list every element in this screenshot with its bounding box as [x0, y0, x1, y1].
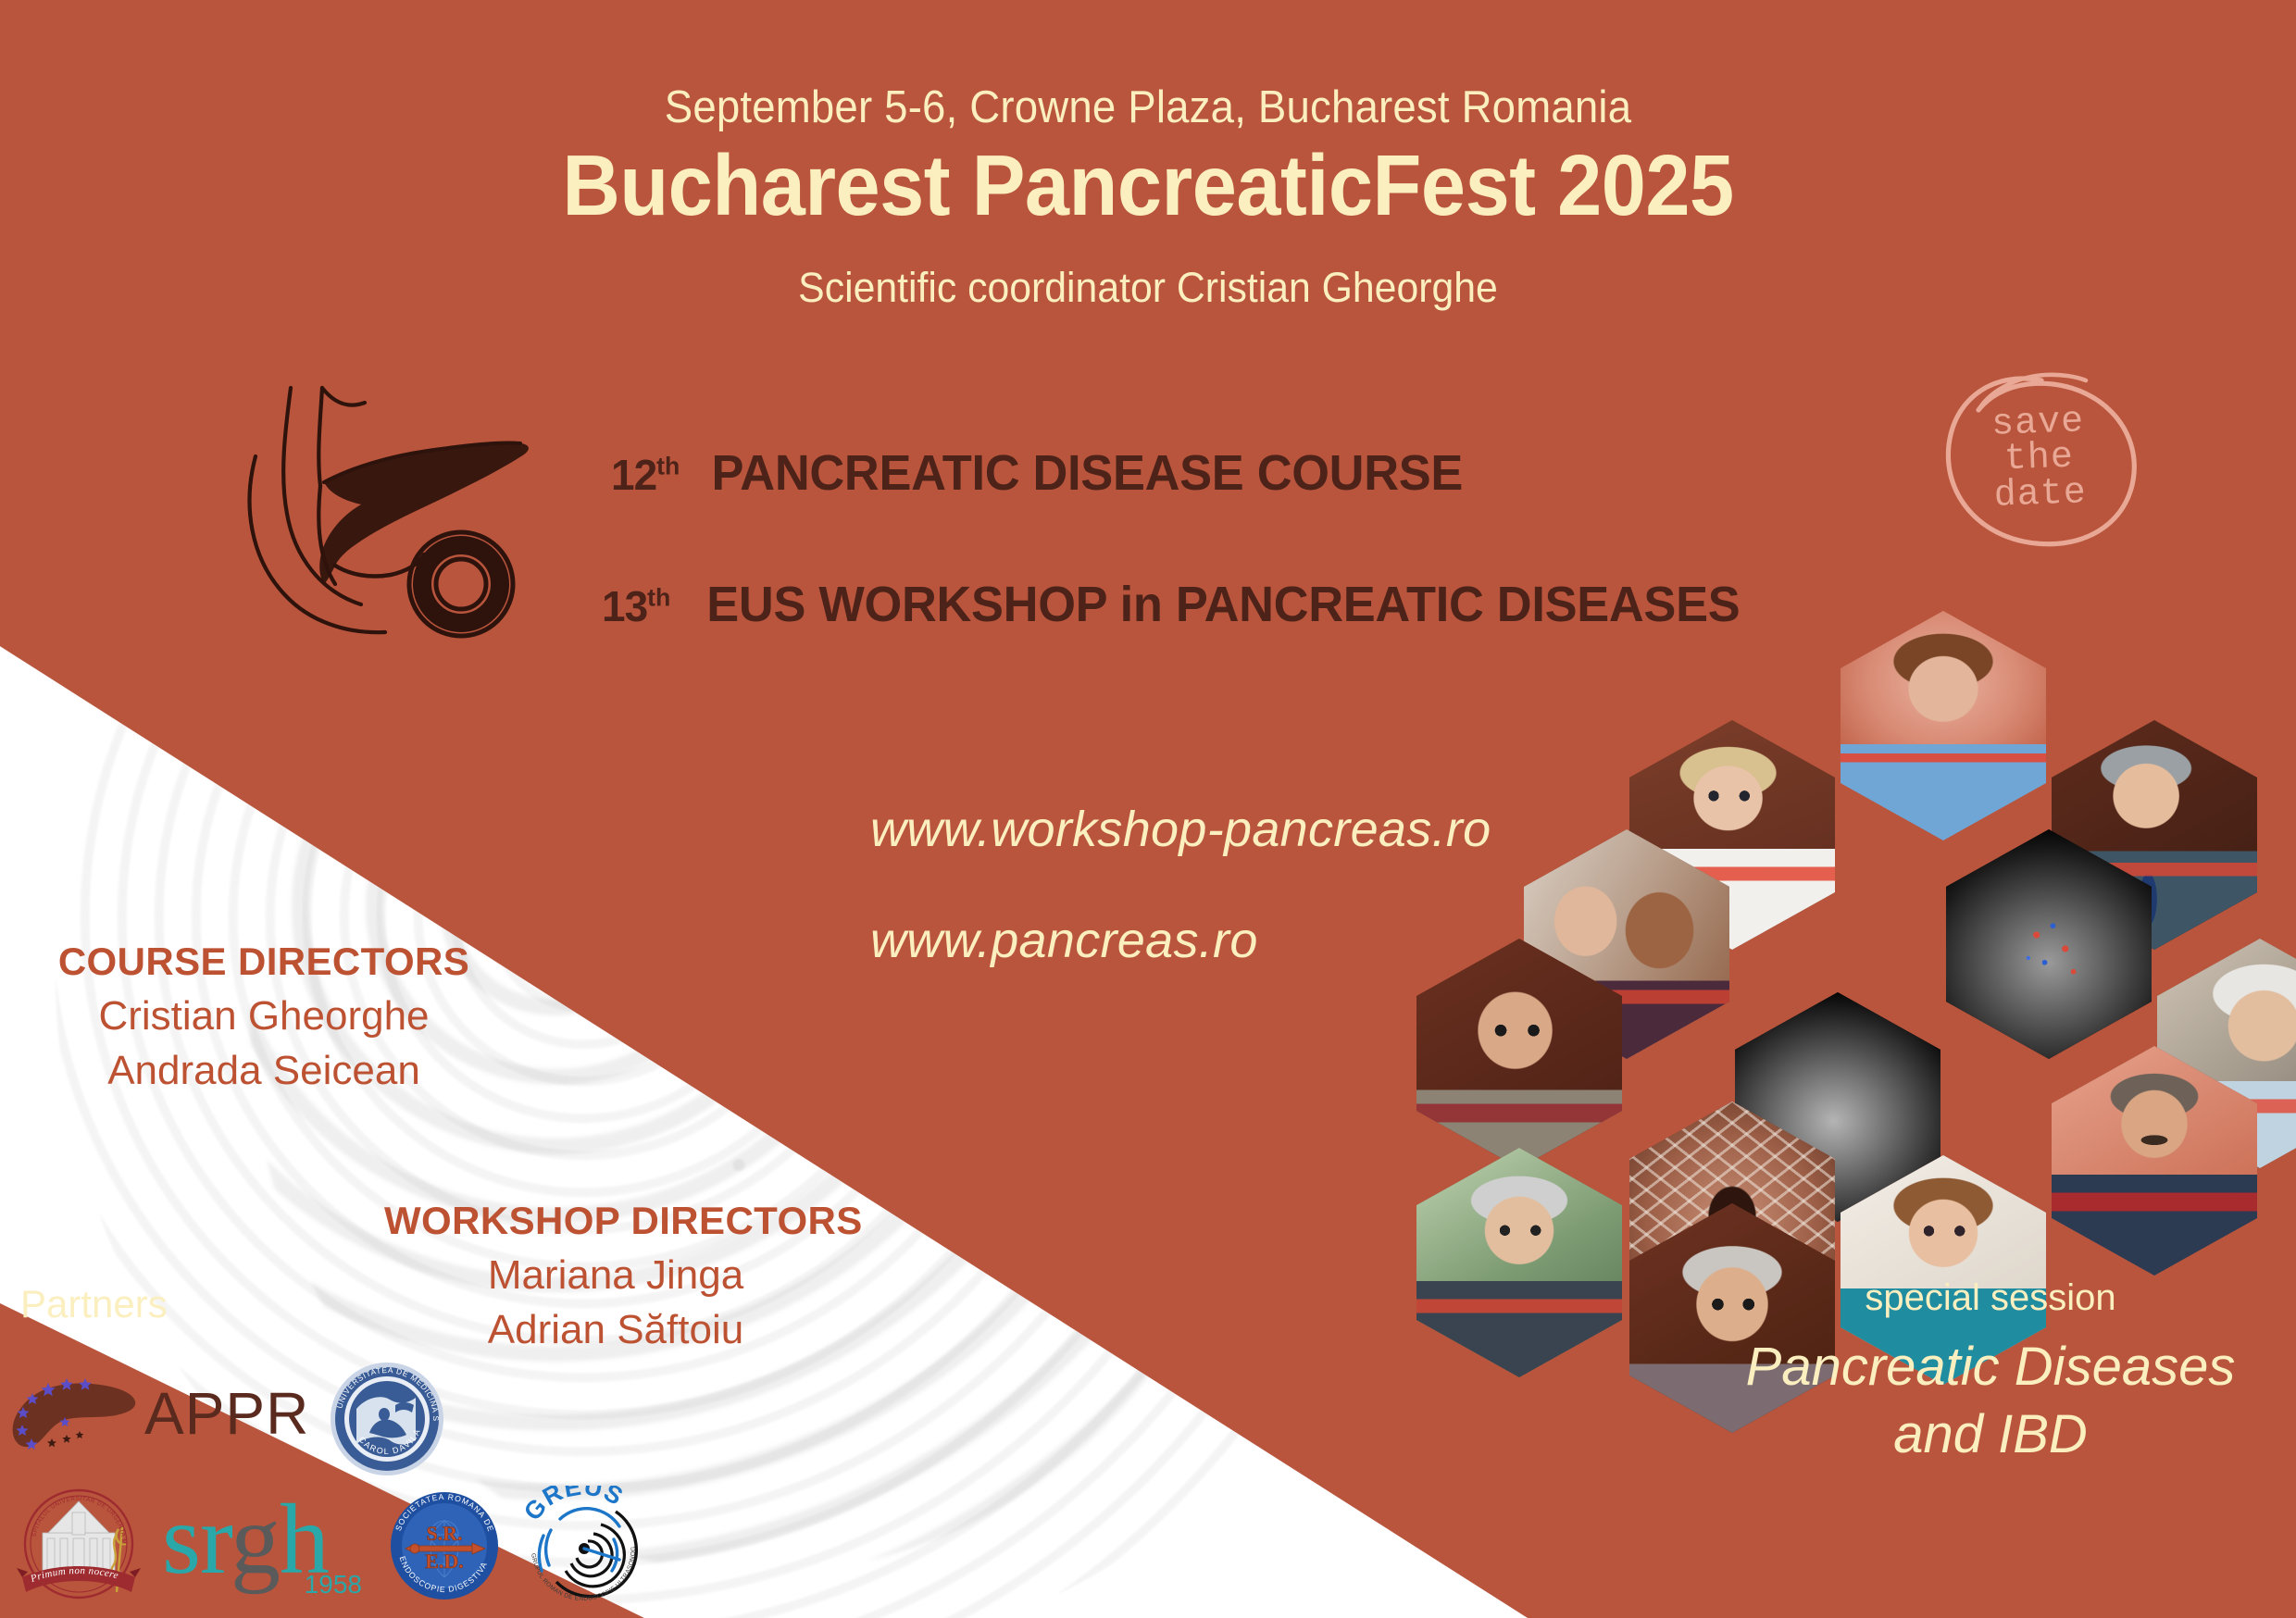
- workshop-directors-heading: WORKSHOP DIRECTORS: [384, 1199, 847, 1243]
- collage-tile-speaker-backdrop-woman: [1841, 611, 2046, 840]
- workshop-ordinal: 13th: [602, 582, 670, 630]
- course-ordinal: 12th: [611, 451, 680, 499]
- course-title: PANCREATIC DISEASE COURSE: [712, 444, 1463, 502]
- logo-greus: GREUS GRUPUL ROMAN DE ENDOSCOPIE ULTRASO…: [523, 1486, 643, 1606]
- save-the-date-stamp: save the date: [1930, 366, 2148, 574]
- workshop-directors-block: WORKSHOP DIRECTORS Mariana Jinga Adrian …: [384, 1199, 847, 1357]
- stamp-line-3: date: [1931, 474, 2150, 517]
- website-link-pancreas[interactable]: www.pancreas.ro: [870, 912, 1258, 969]
- special-session-title-line-2: and IBD: [1694, 1401, 2287, 1469]
- special-session-title-line-1: Pancreatic Diseases: [1694, 1334, 2287, 1401]
- logo-sred: S.R. E.D. SOCIETATEA ROMANA DE ENDOSCOPI…: [389, 1490, 500, 1601]
- website-link-workshop-pancreas[interactable]: www.workshop-pancreas.ro: [870, 801, 1491, 858]
- date-venue-line: September 5-6, Crowne Plaza, Bucharest R…: [81, 81, 2215, 133]
- course-heading-pancreatic-disease-course: 12thPANCREATIC DISEASE COURSE: [611, 444, 1475, 502]
- svg-text:S.R.: S.R.: [426, 1522, 462, 1545]
- stamp-text: save the date: [1928, 403, 2150, 517]
- special-session-block: special session Pancreatic Diseases and …: [1694, 1277, 2287, 1468]
- course-director-name-2: Andrada Seicean: [51, 1044, 477, 1099]
- logo-srgh: srgh 1958: [162, 1490, 366, 1601]
- workshop-director-name-2: Adrian Săftoiu: [384, 1303, 847, 1358]
- partner-logos: APPR UNIVERSITATEA DE: [0, 1361, 704, 1618]
- pancreas-sketch-icon: [231, 366, 546, 643]
- appr-wordmark: APPR: [144, 1379, 309, 1448]
- partners-label: Partners: [20, 1282, 168, 1326]
- course-directors-block: COURSE DIRECTORS Cristian Gheorghe Andra…: [51, 940, 477, 1098]
- special-session-label: special session: [1694, 1277, 2287, 1319]
- logo-primum-non-nocere: Primum non nocere SPITALUL UNIVERSITAR D…: [9, 1479, 148, 1609]
- course-directors-heading: COURSE DIRECTORS: [51, 940, 477, 984]
- course-director-name-1: Cristian Gheorghe: [51, 989, 477, 1044]
- scientific-coordinator-line: Scientific coordinator Cristian Gheorghe: [57, 264, 2239, 312]
- logo-umf-carol-davila: UNIVERSITATEA DE MEDICINA SI FARMACIE CA…: [329, 1361, 445, 1477]
- srgh-year: 1958: [305, 1570, 362, 1599]
- svg-text:E.D.: E.D.: [425, 1550, 464, 1573]
- speaker-photo-collage: [1416, 611, 2296, 1296]
- conference-poster: September 5-6, Crowne Plaza, Bucharest R…: [0, 0, 2296, 1618]
- collage-tile-speaker-grey-suit-man: [1416, 1148, 1622, 1377]
- page-title: Bucharest PancreaticFest 2025: [81, 141, 2215, 231]
- workshop-director-name-1: Mariana Jinga: [384, 1249, 847, 1303]
- logo-appr: APPR: [7, 1372, 285, 1455]
